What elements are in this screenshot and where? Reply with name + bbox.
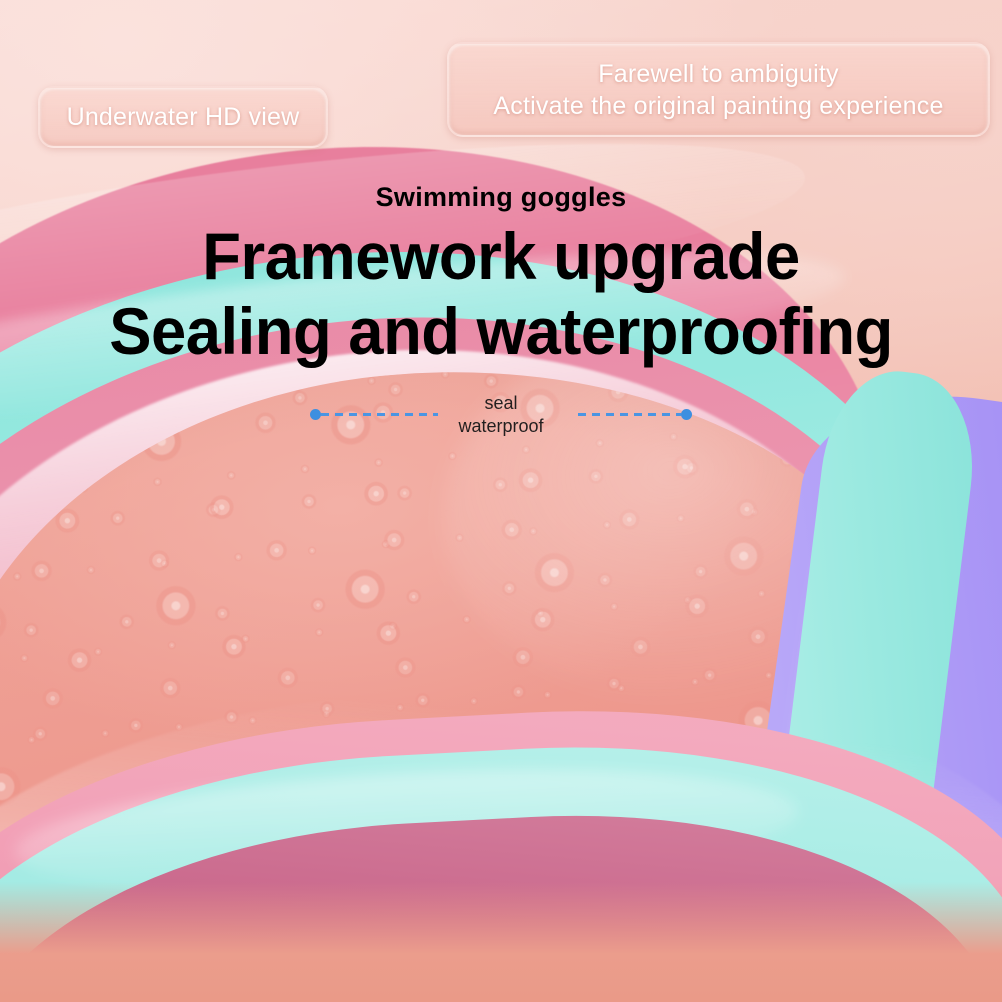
seal-waterproof-callout: seal waterproof xyxy=(0,392,1002,452)
badge-underwater-hd-view: Underwater HD view xyxy=(38,86,328,148)
leader-dash-right-icon xyxy=(578,413,681,416)
leader-dot-right-icon xyxy=(681,409,692,420)
callout-line-1: seal xyxy=(401,392,601,415)
headline-line-1: Framework upgrade xyxy=(20,219,982,294)
badge-farewell-ambiguity: Farewell to ambiguity Activate the origi… xyxy=(447,42,990,137)
callout-text: seal waterproof xyxy=(401,392,601,439)
leader-dot-left-icon xyxy=(310,409,321,420)
headline-line-2: Sealing and waterproofing xyxy=(20,294,982,369)
callout-leader-right xyxy=(578,409,692,419)
product-subtitle: Swimming goggles xyxy=(0,182,1002,213)
callout-line-2: waterproof xyxy=(401,415,601,438)
headline-block: Swimming goggles Framework upgrade Seali… xyxy=(0,182,1002,369)
text-overlay: Underwater HD view Farewell to ambiguity… xyxy=(0,0,1002,1002)
badge-farewell-line-1: Farewell to ambiguity xyxy=(598,58,838,90)
badge-underwater-label: Underwater HD view xyxy=(67,101,300,133)
product-banner: Underwater HD view Farewell to ambiguity… xyxy=(0,0,1002,1002)
badge-farewell-line-2: Activate the original painting experienc… xyxy=(493,90,943,122)
